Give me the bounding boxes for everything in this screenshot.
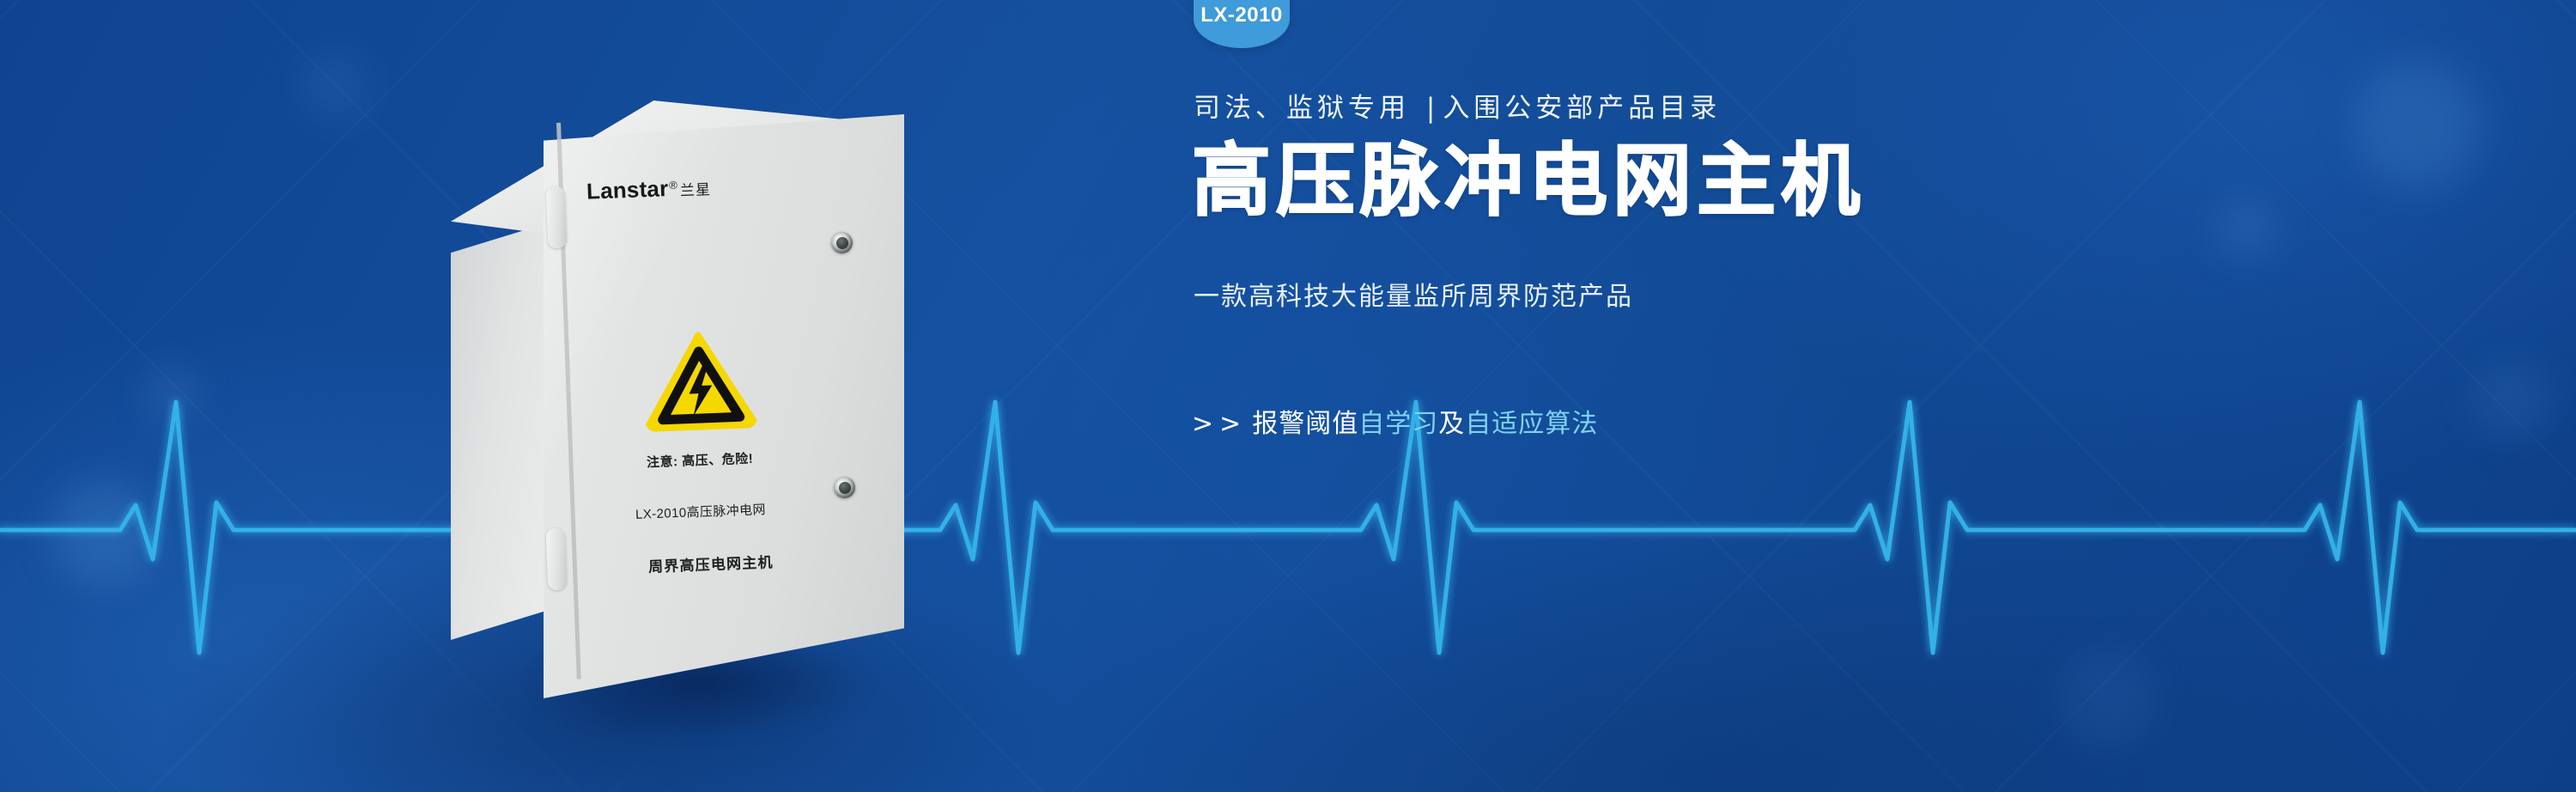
brand-registered-mark: ® (669, 179, 677, 192)
cabinet-hinge-top (546, 186, 568, 249)
banner-eyebrow: 司法、监狱专用 |入围公安部产品目录 (1194, 86, 1721, 125)
model-badge: LX-2010 (1194, 0, 1290, 48)
banner-tagline: 一款高科技大能量监所周界防范产品 (1194, 275, 1633, 313)
chevron-right-icon: > (1192, 409, 1214, 439)
eyebrow-right: 入围公安部产品目录 (1443, 93, 1721, 124)
feature-link[interactable]: > > 报警阈值 自学习 及 自适应算法 (1192, 402, 1598, 440)
chevron-right-icon-2: > (1219, 409, 1242, 439)
eyebrow-left: 司法、监狱专用 (1194, 93, 1423, 124)
feature-text-part-3: 及 (1438, 402, 1465, 440)
feature-text-part-1: 报警阈值 (1252, 402, 1358, 440)
product-image: Lanstar ® 兰星 注意: 高压、危险! LX-2010高压脉冲电网 周界… (434, 82, 966, 734)
page-title: 高压脉冲电网主机 (1192, 140, 1865, 223)
feature-text-part-4: 自适应算法 (1465, 402, 1598, 440)
feature-text-part-2: 自学习 (1358, 402, 1438, 440)
promo-banner: Lanstar ® 兰星 注意: 高压、危险! LX-2010高压脉冲电网 周界… (0, 0, 2576, 792)
brand-name-latin: Lanstar (586, 175, 668, 205)
cabinet-lock-knob-bottom (834, 477, 855, 498)
eyebrow-divider: | (1423, 93, 1443, 124)
high-voltage-warning-triangle-icon (642, 329, 757, 433)
cabinet-hinge-bottom (546, 528, 568, 591)
product-brand-logo: Lanstar ® 兰星 (586, 174, 711, 205)
banner-content: LX-2010 司法、监狱专用 |入围公安部产品目录 高压脉冲电网主机 一款高科… (1194, 0, 2533, 792)
brand-name-chinese: 兰星 (679, 177, 711, 199)
model-badge-label: LX-2010 (1200, 3, 1283, 27)
cabinet-lock-knob-top (831, 232, 853, 253)
